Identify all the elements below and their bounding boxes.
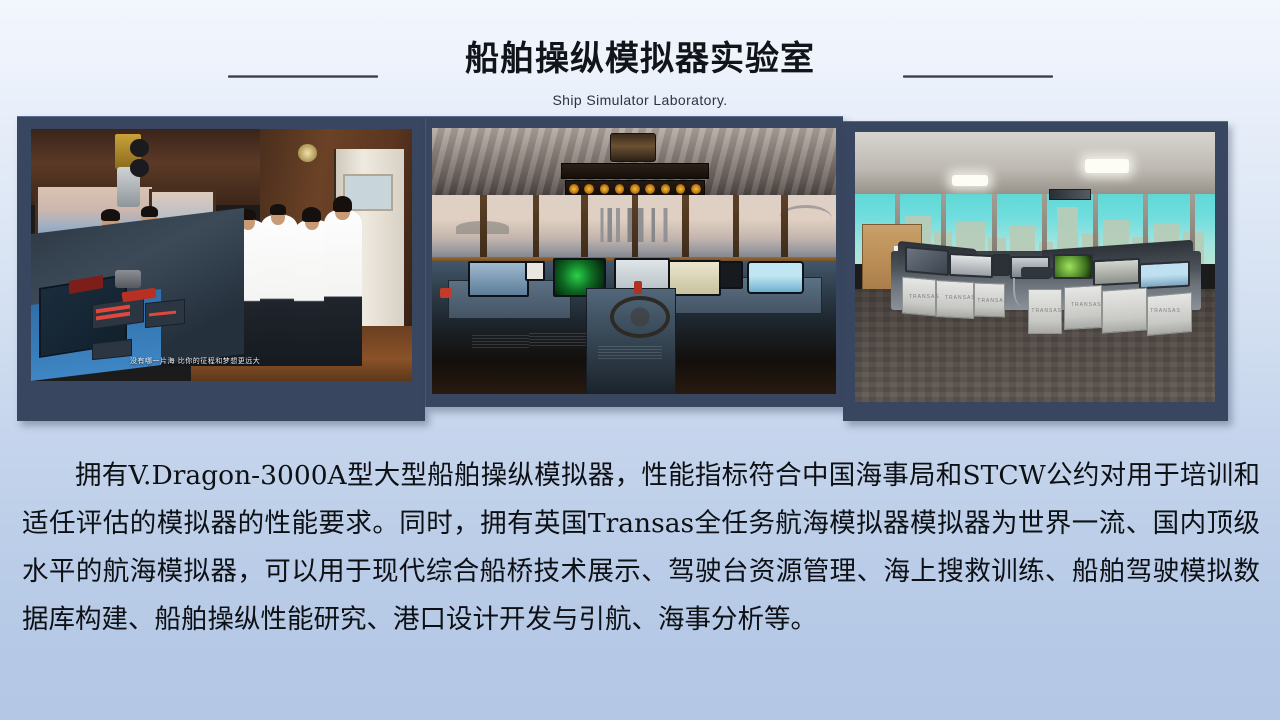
brand-label: TRANSAS xyxy=(909,294,940,300)
brand-label: TRANSAS xyxy=(1150,308,1181,314)
photo-frame-middle xyxy=(425,116,843,407)
body-paragraph: 拥有V.Dragon-3000A型大型船舶操纵模拟器，性能指标符合中国海事局和S… xyxy=(22,452,1260,644)
photo-frame-right: TRANSAS TRANSAS TRANSAS TRANSAS TRANSAS … xyxy=(843,121,1228,421)
page-title: 船舶操纵模拟器实验室 xyxy=(0,42,1280,76)
page-subtitle: Ship Simulator Laboratory. xyxy=(0,93,1280,107)
brand-label: TRANSAS xyxy=(1031,308,1062,314)
photo-right-scene: TRANSAS TRANSAS TRANSAS TRANSAS TRANSAS … xyxy=(855,132,1215,402)
photo-gallery: 没有哪一片海 比你的征程和梦想更远大 xyxy=(17,116,1228,420)
brand-label: TRANSAS xyxy=(977,298,1008,304)
photo-left-scene: 没有哪一片海 比你的征程和梦想更远大 xyxy=(31,129,412,381)
photo-left: 没有哪一片海 比你的征程和梦想更远大 xyxy=(31,129,412,381)
photo-middle xyxy=(432,128,836,394)
photo-middle-scene xyxy=(432,128,836,394)
brand-label: TRANSAS xyxy=(1071,302,1102,308)
title-zone: 船舶操纵模拟器实验室 Ship Simulator Laboratory. xyxy=(0,0,1280,116)
slide-root: 船舶操纵模拟器实验室 Ship Simulator Laboratory. xyxy=(0,0,1280,720)
photo-right: TRANSAS TRANSAS TRANSAS TRANSAS TRANSAS … xyxy=(855,132,1215,402)
photo-frame-left: 没有哪一片海 比你的征程和梦想更远大 xyxy=(17,116,425,421)
photo-left-caption: 没有哪一片海 比你的征程和梦想更远大 xyxy=(130,356,260,366)
brand-label: TRANSAS xyxy=(945,295,976,301)
